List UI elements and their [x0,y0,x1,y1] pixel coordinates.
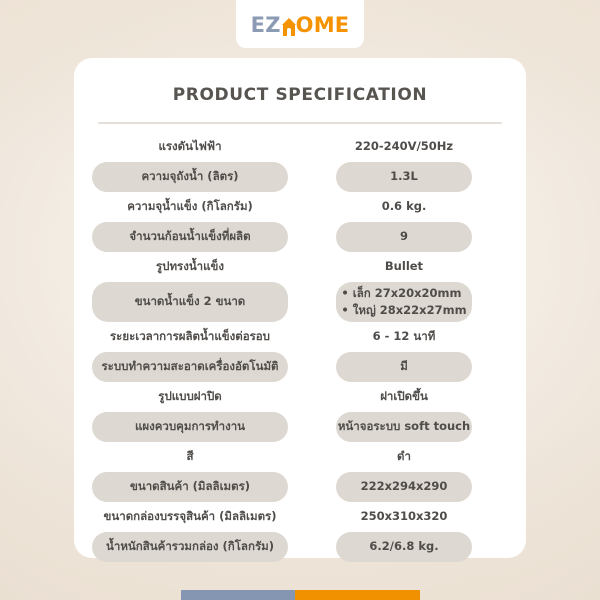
footer-bar-blue [181,590,295,600]
spec-value-bullets: • เล็ก 27x20x20mm• ใหญ่ 28x22x27mm [341,285,466,318]
ezhome-logo: EZ OME [251,15,350,36]
page-title: PRODUCT SPECIFICATION [74,85,526,105]
spec-label: ขนาดกล่องบรรจุสินค้า (มิลลิเมตร) [92,502,288,532]
spec-row: น้ำหนักสินค้ารวมกล่อง (กิโลกรัม)6.2/6.8 … [92,532,508,562]
brand-logo-chip: EZ OME [236,0,364,48]
spec-label: แผงควบคุมการทำงาน [92,412,288,442]
spec-row: แรงดันไฟฟ้า220-240V/50Hz [92,132,508,162]
spec-value: มี [336,352,472,382]
spec-label: รูปแบบฝาปิด [92,382,288,412]
spec-label: ความจุถังน้ำ (ลิตร) [92,162,288,192]
spec-row: รูปทรงน้ำแข็งBullet [92,252,508,282]
spec-label: จำนวนก้อนน้ำแข็งที่ผลิต [92,222,288,252]
spec-value: 222x294x290 [336,472,472,502]
spec-value-bullet-line: • เล็ก 27x20x20mm [341,285,466,302]
spec-row: ขนาดสินค้า (มิลลิเมตร)222x294x290 [92,472,508,502]
spec-value: 1.3L [336,162,472,192]
spec-value: ดำ [336,442,472,472]
spec-value: • เล็ก 27x20x20mm• ใหญ่ 28x22x27mm [336,282,472,322]
spec-row: รูปแบบฝาปิดฝาเปิดขึ้น [92,382,508,412]
spec-row: ขนาดกล่องบรรจุสินค้า (มิลลิเมตร)250x310x… [92,502,508,532]
spec-label: น้ำหนักสินค้ารวมกล่อง (กิโลกรัม) [92,532,288,562]
spec-value: ฝาเปิดขึ้น [336,382,472,412]
spec-value-bullet-line: • ใหญ่ 28x22x27mm [341,302,466,319]
spec-row: ความจุถังน้ำ (ลิตร)1.3L [92,162,508,192]
spec-value: 0.6 kg. [336,192,472,222]
spec-value: หน้าจอระบบ soft touch [336,412,472,442]
spec-label: ระยะเวลาการผลิตน้ำแข็งต่อรอบ [92,322,288,352]
spec-value: 6.2/6.8 kg. [336,532,472,562]
page-background: EZ OME PRODUCT SPECIFICATION แรงดันไฟฟ้า… [0,0,600,600]
spec-value: Bullet [336,252,472,282]
spec-label: ระบบทำความสะอาดเครื่องอัตโนมัติ [92,352,288,382]
logo-text-ez: EZ [251,15,281,36]
spec-label: ความจุน้ำแข็ง (กิโลกรัม) [92,192,288,222]
footer-accent-bars [181,590,420,600]
spec-row: ความจุน้ำแข็ง (กิโลกรัม)0.6 kg. [92,192,508,222]
spec-value: 220-240V/50Hz [336,132,472,162]
house-icon [282,15,296,36]
logo-text-home: OME [296,15,350,36]
spec-label: แรงดันไฟฟ้า [92,132,288,162]
spec-label: ขนาดสินค้า (มิลลิเมตร) [92,472,288,502]
spec-row: จำนวนก้อนน้ำแข็งที่ผลิต9 [92,222,508,252]
spec-label: สี [92,442,288,472]
footer-bar-orange [295,590,420,600]
spec-value: 250x310x320 [336,502,472,532]
spec-row: ระยะเวลาการผลิตน้ำแข็งต่อรอบ6 - 12 นาที [92,322,508,352]
spec-label: ขนาดน้ำแข็ง 2 ขนาด [92,282,288,322]
spec-label: รูปทรงน้ำแข็ง [92,252,288,282]
spec-row: สีดำ [92,442,508,472]
specification-card: PRODUCT SPECIFICATION แรงดันไฟฟ้า220-240… [74,58,526,558]
spec-value: 6 - 12 นาที [336,322,472,352]
spec-value: 9 [336,222,472,252]
spec-row: ระบบทำความสะอาดเครื่องอัตโนมัติมี [92,352,508,382]
spec-row: ขนาดน้ำแข็ง 2 ขนาด• เล็ก 27x20x20mm• ใหญ… [92,282,508,322]
spec-row: แผงควบคุมการทำงานหน้าจอระบบ soft touch [92,412,508,442]
title-divider [98,122,502,124]
specification-list: แรงดันไฟฟ้า220-240V/50Hzความจุถังน้ำ (ลิ… [74,132,526,562]
